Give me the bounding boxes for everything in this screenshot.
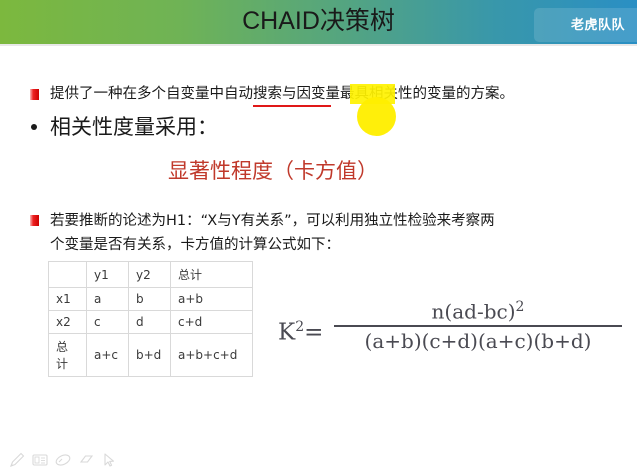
table-row: x2 c d c+d (49, 311, 253, 334)
table-cell-r0c2: b (129, 288, 171, 311)
bullet-text-1: 提供了一种在多个自变量中自动搜索与因变量最具相关性的变量的方案。 (50, 83, 514, 105)
bullet-marker-square-3 (30, 215, 39, 226)
formula-numerator-exponent: 2 (516, 299, 525, 315)
table-cell-r1c3: c+d (171, 311, 253, 334)
paragraph-block: 若要推断的论述为H1：“X与Y有关系”，可以利用独立性检验来考察两 个变量是否有… (50, 209, 620, 257)
table-cell-r1c2: d (129, 311, 171, 334)
bullet-marker-square-1 (30, 89, 39, 100)
slide-canvas: CHAID决策树 老虎队队 提供了一种在多个自变量中自动搜索与因变量最具相关性的… (0, 0, 637, 475)
table-cell-r2c2: b+d (129, 334, 171, 377)
emphasis-text: 显著性程度（卡方值） (168, 156, 378, 186)
table-cell-r2c1: a+c (87, 334, 129, 377)
cursor-arrow-icon[interactable] (100, 451, 118, 469)
formula-numerator-text: n(ad-bc) (432, 300, 516, 324)
page-title: CHAID决策树 (0, 2, 637, 40)
formula-equals: = (304, 320, 323, 346)
table-cell-r2c0: 总计 (49, 334, 87, 377)
table-cell-r0c0: x1 (49, 288, 87, 311)
red-underline-annotation (253, 105, 331, 107)
table-header-cell-2: y2 (129, 262, 171, 288)
table-cell-r0c1: a (87, 288, 129, 311)
formula-numerator: n(ad-bc)2 (334, 299, 622, 325)
table-cell-r0c3: a+b (171, 288, 253, 311)
formula-fraction: n(ad-bc)2 (a+b)(c+d)(a+c)(b+d) (334, 299, 622, 353)
table-header-cell-3: 总计 (171, 262, 253, 288)
formula-lhs-symbol: K (278, 320, 295, 346)
table-header-row: y1 y2 总计 (49, 262, 253, 288)
table-row: 总计 a+c b+d a+b+c+d (49, 334, 253, 377)
formula-lhs-exponent: 2 (295, 319, 304, 335)
table-cell-r2c3: a+b+c+d (171, 334, 253, 377)
table-cell-r1c1: c (87, 311, 129, 334)
highlighter-icon[interactable] (54, 451, 72, 469)
bullet-marker-dot-2 (31, 124, 37, 130)
team-tag-label: 老虎队队 (571, 14, 625, 33)
table-cell-r1c0: x2 (49, 311, 87, 334)
eraser-icon[interactable] (77, 451, 95, 469)
paragraph-line-1: 若要推断的论述为H1：“X与Y有关系”，可以利用独立性检验来考察两 (50, 209, 620, 233)
bullet-text-2: 相关性度量采用： (50, 112, 218, 142)
formula-left-side: K2= (278, 319, 323, 346)
pen-icon[interactable] (8, 451, 26, 469)
slide-header-banner: CHAID决策树 老虎队队 (0, 0, 637, 44)
yellow-circle-annotation (357, 97, 396, 136)
table-header-cell-0 (49, 262, 87, 288)
annotation-toolbar (0, 446, 637, 475)
contingency-table: y1 y2 总计 x1 a b a+b x2 c d c+d (48, 261, 253, 377)
formula-denominator: (a+b)(c+d)(a+c)(b+d) (334, 327, 622, 353)
slide-body: 提供了一种在多个自变量中自动搜索与因变量最具相关性的变量的方案。 相关性度量采用… (0, 46, 637, 426)
paragraph-line-2: 个变量是否有关系，卡方值的计算公式如下： (50, 233, 620, 257)
table-row: x1 a b a+b (49, 288, 253, 311)
grid-panel-icon[interactable] (31, 451, 49, 469)
table-header-cell-1: y1 (87, 262, 129, 288)
